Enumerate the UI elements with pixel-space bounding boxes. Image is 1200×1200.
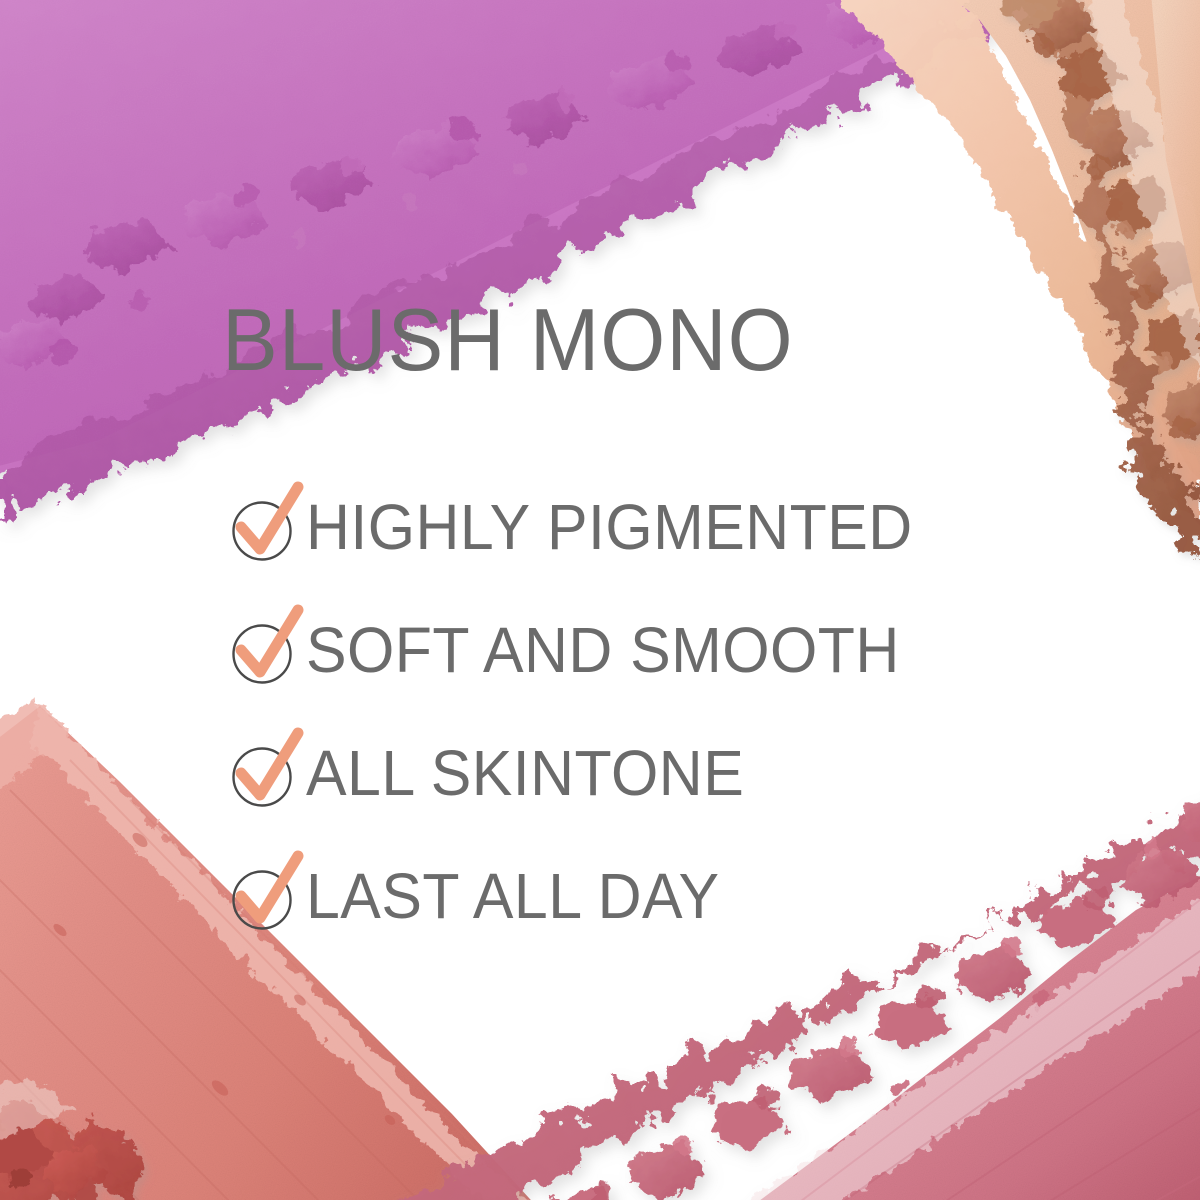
check-circle-icon bbox=[222, 721, 318, 817]
check-circle-icon bbox=[222, 475, 318, 571]
list-item: SOFT AND SMOOTH bbox=[222, 616, 1042, 739]
check-circle-icon bbox=[222, 844, 318, 940]
list-item-label: HIGHLY PIGMENTED bbox=[306, 493, 913, 561]
list-item: LAST ALL DAY bbox=[222, 862, 1042, 985]
list-item-label: ALL SKINTONE bbox=[306, 739, 744, 807]
page-title: BLUSH MONO bbox=[222, 296, 794, 384]
list-item: HIGHLY PIGMENTED bbox=[222, 493, 1042, 616]
product-feature-card: BLUSH MONO HIGHLY PIGMENTED SOFT AND SMO… bbox=[0, 0, 1200, 1200]
feature-list: HIGHLY PIGMENTED SOFT AND SMOOTH ALL SKI… bbox=[222, 493, 1042, 985]
check-circle-icon bbox=[222, 598, 318, 694]
card-content: BLUSH MONO HIGHLY PIGMENTED SOFT AND SMO… bbox=[0, 0, 1200, 1200]
list-item-label: SOFT AND SMOOTH bbox=[306, 616, 900, 684]
list-item-label: LAST ALL DAY bbox=[306, 862, 720, 930]
list-item: ALL SKINTONE bbox=[222, 739, 1042, 862]
